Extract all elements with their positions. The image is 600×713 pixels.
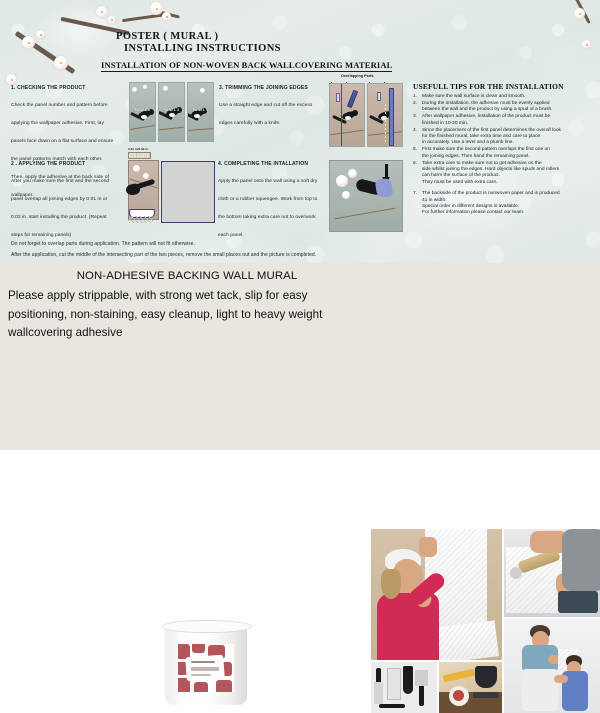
step-3-heading: 3. TRIMMING THE JOINING EDGES: [219, 85, 323, 91]
step-4-body: Apply the panel onto the wall using a so…: [218, 179, 317, 238]
tip-item: 2.During the installation, the adhesive …: [422, 101, 596, 114]
photo-collage: [371, 529, 600, 713]
tip-number: 4.: [413, 128, 417, 134]
overlapping-parts-label: Overlapping Parts: [341, 74, 374, 78]
diagram-trim-panel-left: [329, 83, 365, 147]
tip-line: For further information please contact o…: [422, 210, 596, 216]
tip-line: They must be used with extra care.: [422, 180, 596, 186]
instruction-sheet: POSTER ( MURAL ) INSTALLING INSTRUCTIONS…: [0, 0, 600, 263]
diagram-panel-2-label: PANEL 2: [164, 108, 179, 112]
photo-tool-set: [371, 662, 437, 713]
step-1-heading: 1. CHECKING THE PRODUCT: [11, 85, 116, 91]
step-2-heading: 2 . APPLYING THE PRODUCT: [11, 161, 118, 167]
floor-hatching: [129, 216, 153, 223]
tip-number: 1.: [413, 94, 417, 100]
tip-line: the joining edges. Then hand the remaini…: [422, 154, 596, 160]
diagram-step1-panels: PANEL 1 PANEL 2 PANEL 3: [129, 82, 214, 142]
step-4-heading: 4. COMPLETING THE INTALLATION: [218, 161, 324, 167]
diagram-blank-wall-area: [161, 161, 215, 223]
page-subtitle: INSTALLATION OF NON-WOVEN BACK WALLCOVER…: [101, 60, 392, 72]
tip-number: 3.: [413, 114, 417, 120]
direction-arrow-icon: [385, 164, 388, 178]
tip-line: finished in 10-20 min.: [422, 121, 596, 127]
bucket-label-line: [191, 667, 219, 671]
diagram-panel-2: PANEL 2: [158, 82, 185, 142]
page-title-line2: INSTALLING INSTRUCTIONS: [124, 43, 281, 54]
diagram-trim-panel-right: [367, 83, 403, 147]
tip-item: 6.Take extra care to make sure not to ge…: [422, 161, 596, 187]
description-text-block: NON-ADHESIVE BACKING WALL MURAL Please a…: [8, 270, 366, 342]
knife-blade-icon: [336, 93, 340, 102]
diagram-step2-applying: [128, 160, 214, 232]
diagram-panel-3: PANEL 3: [187, 82, 214, 142]
tip-item: 1.Make sure the wall surface is clean an…: [422, 94, 596, 100]
straight-edge-icon: [389, 88, 394, 146]
tip-number: 7.: [413, 191, 417, 197]
bucket-label-line: [191, 674, 211, 676]
photo-hands-with-roller: [504, 529, 600, 617]
product-description-section: NON-ADHESIVE BACKING WALL MURAL Please a…: [0, 263, 600, 450]
note-line-2: After the application, cut the middle of…: [11, 252, 316, 258]
knife-blade-icon-2: [377, 92, 381, 101]
diagram-panel-3-label: PANEL 3: [193, 108, 208, 112]
bucket-label-line: [191, 661, 215, 663]
ruler-measurement-label: 0.01 in/0.02 in: [128, 147, 148, 151]
useful-tips-section: USEFULL TIPS FOR THE INSTALLATION 1.Make…: [413, 82, 596, 217]
photo-woman-hanging-wallpaper: [371, 529, 502, 660]
step-4-completing-the-installation: 4. COMPLETING THE INTALLATION Apply the …: [218, 161, 324, 241]
photo-man-and-child: [504, 619, 600, 713]
diagram-step4-completing: [329, 160, 403, 232]
step-2-body: After you make sure the first and the se…: [11, 179, 109, 238]
diagram-step3-trimming: [329, 83, 403, 147]
page-title-line1: POSTER ( MURAL ): [116, 31, 218, 42]
squeegee-glove-icon: [375, 178, 393, 198]
note-line-1: Do not forget to overlap parts during ap…: [11, 241, 195, 247]
step-3-trimming-the-joining-edges: 3. TRIMMING THE JOINING EDGES Use a stra…: [219, 85, 323, 129]
tip-line: Make sure the wall surface is clean and …: [422, 94, 596, 100]
tip-number: 5.: [413, 147, 417, 153]
utility-knife-icon: [347, 90, 358, 109]
tip-item: 7.The backside of the product is nonwove…: [422, 191, 596, 217]
ruler-icon: [128, 152, 151, 159]
tips-heading: USEFULL TIPS FOR THE INSTALLATION: [413, 82, 596, 91]
step-2-applying-the-product: 2 . APPLYING THE PRODUCT After you make …: [11, 161, 118, 241]
tip-item: 3.After wallpaper adhesive, installation…: [422, 114, 596, 127]
product-description: Please apply strippable, with strong wet…: [8, 289, 322, 339]
photo-tools-on-table: [439, 662, 502, 713]
tip-item: 4.Since the placement of the first panel…: [422, 128, 596, 147]
diagram-panel-1: PANEL 1: [129, 82, 156, 142]
tip-number: 2.: [413, 101, 417, 107]
adhesive-bucket-image: [160, 620, 252, 708]
tip-number: 6.: [413, 161, 417, 167]
tip-item: 5.First make sure the second pattern ove…: [422, 147, 596, 160]
tips-list: 1.Make sure the wall surface is clean an…: [413, 94, 596, 217]
tip-line: in accurately. Use a level and a plumb l…: [422, 140, 596, 146]
diagram-panel-1-label: PANEL 1: [135, 108, 150, 112]
bucket-lid: [162, 620, 252, 633]
tip-line: between the wall and the product by usin…: [422, 107, 596, 113]
product-headline: NON-ADHESIVE BACKING WALL MURAL: [8, 270, 366, 282]
step-3-body: Use a straight edge and cut off the exce…: [219, 103, 312, 126]
